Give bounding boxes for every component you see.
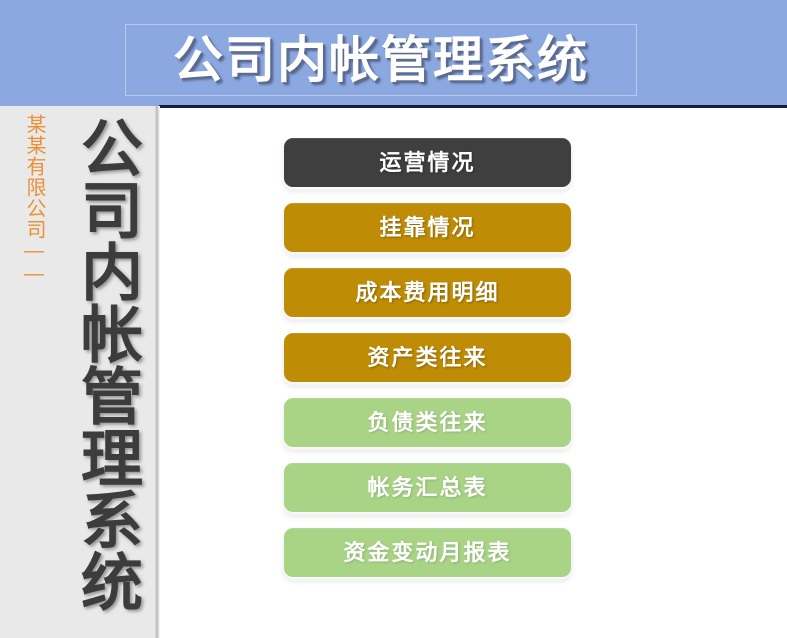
- menu-button-label: 挂靠情况: [379, 217, 475, 239]
- page-title: 公司内帐管理系统: [173, 35, 589, 85]
- menu-button-label: 运营情况: [379, 152, 475, 174]
- main-content: 运营情况 挂靠情况 成本费用明细 资产类往来 负债类往来 帐务汇总表 资金变动月…: [160, 108, 787, 638]
- menu-button-liability-transactions[interactable]: 负债类往来: [284, 398, 571, 447]
- header-banner: 公司内帐管理系统: [0, 0, 787, 106]
- company-name-label: 某某有限公司——: [10, 114, 44, 286]
- sidebar-vertical-title: 公司内帐管理系统: [58, 116, 134, 612]
- menu-button-monthly-fund-report[interactable]: 资金变动月报表: [284, 528, 571, 577]
- menu-button-cost-detail[interactable]: 成本费用明细: [284, 268, 571, 317]
- header-title-box: 公司内帐管理系统: [125, 24, 637, 96]
- menu-button-label: 成本费用明细: [355, 282, 499, 304]
- menu-button-operations[interactable]: 运营情况: [284, 138, 571, 187]
- main-menu: 运营情况 挂靠情况 成本费用明细 资产类往来 负债类往来 帐务汇总表 资金变动月…: [284, 138, 571, 577]
- sidebar: 某某有限公司—— 公司内帐管理系统: [0, 106, 159, 638]
- menu-button-label: 负债类往来: [367, 412, 487, 434]
- menu-button-label: 资金变动月报表: [343, 542, 511, 564]
- menu-button-accounting-summary[interactable]: 帐务汇总表: [284, 463, 571, 512]
- menu-button-affiliation[interactable]: 挂靠情况: [284, 203, 571, 252]
- menu-button-asset-transactions[interactable]: 资产类往来: [284, 333, 571, 382]
- menu-button-label: 资产类往来: [367, 347, 487, 369]
- menu-button-label: 帐务汇总表: [367, 477, 487, 499]
